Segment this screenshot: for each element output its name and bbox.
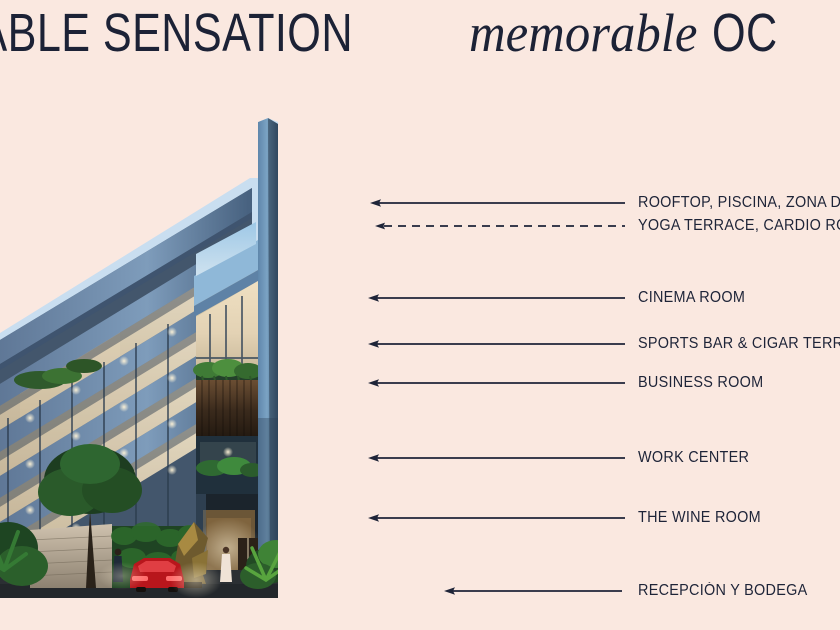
headline-part-2: memorable xyxy=(469,6,697,60)
callout-label-yoga-terrace: YOGA TERRACE, CARDIO ROO xyxy=(638,218,840,234)
headline-part-3: OC xyxy=(712,6,778,60)
callout-label-recepcion-bodega: RECEPCIÓN Y BODEGA xyxy=(638,583,808,599)
callout-label-business-room: BUSINESS ROOM xyxy=(638,375,763,391)
arrow-rooftop xyxy=(370,197,626,209)
callout-label-rooftop: ROOFTOP, PISCINA, ZONA DE xyxy=(638,195,840,211)
page-title: ORTABLE SENSATIONmemorableOC xyxy=(0,6,840,60)
arrow-business-room xyxy=(368,377,626,389)
building-exterior-render xyxy=(0,118,372,618)
arrow-cinema-room xyxy=(368,292,626,304)
arrow-sports-bar-cigar-terrace xyxy=(368,338,626,350)
callout-label-cinema-room: CINEMA ROOM xyxy=(638,290,745,306)
arrow-the-wine-room xyxy=(368,512,626,524)
callout-label-work-center: WORK CENTER xyxy=(638,450,749,466)
arrow-yoga-terrace xyxy=(375,220,626,232)
amenities-diagram-page: ORTABLE SENSATIONmemorableOC xyxy=(0,0,840,630)
callout-label-the-wine-room: THE WINE ROOM xyxy=(638,510,761,526)
arrow-work-center xyxy=(368,452,626,464)
headline-part-1: ORTABLE SENSATION xyxy=(0,6,353,60)
arrow-recepcion-bodega xyxy=(444,585,623,597)
callout-label-sports-bar-cigar-terrace: SPORTS BAR & CIGAR TERRA xyxy=(638,336,840,352)
